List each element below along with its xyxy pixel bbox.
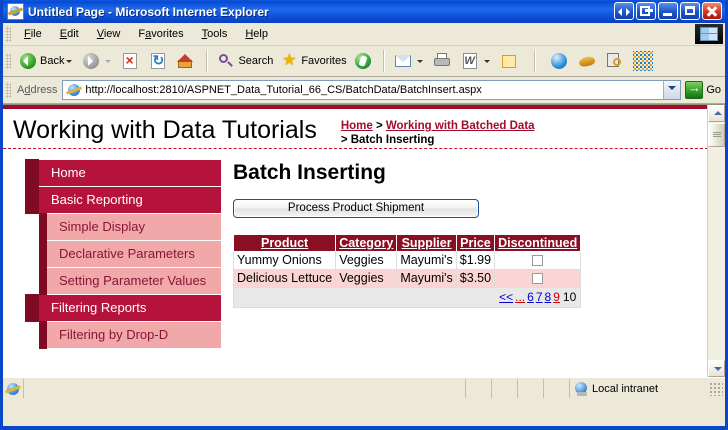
sidebar-item-simple-display[interactable]: Simple Display	[47, 214, 221, 241]
breadcrumb-current: Batch Inserting	[351, 134, 435, 146]
column-header-product[interactable]: Product	[234, 235, 336, 252]
cell-category: Veggies	[336, 270, 397, 288]
mail-chevron-down-icon[interactable]	[417, 60, 423, 66]
cell-supplier: Mayumi's	[397, 270, 456, 288]
sidebar-item-home[interactable]: Home	[39, 160, 221, 187]
media-icon	[353, 51, 373, 71]
toolbar-separator-3	[534, 50, 536, 72]
left-right-arrows-button[interactable]	[614, 2, 634, 20]
media-button[interactable]	[350, 49, 378, 73]
star-icon: ★	[279, 51, 299, 71]
pager-current-page: 10	[563, 290, 576, 304]
pager-page-7-link[interactable]: 7	[536, 290, 543, 304]
search-button[interactable]: Search	[213, 49, 276, 73]
research-button[interactable]	[602, 49, 630, 73]
table-row: Delicious Lettuce Veggies Mayumi's $3.50	[234, 270, 581, 288]
sidebar-item-filtering-reports[interactable]: Filtering Reports	[39, 295, 221, 322]
menu-help[interactable]: Help	[236, 26, 277, 42]
edit-chevron-down-icon[interactable]	[484, 60, 490, 66]
status-pane-2	[491, 379, 517, 398]
forward-history-chevron-down-icon[interactable]	[105, 60, 111, 66]
title-bar: Untitled Page - Microsoft Internet Explo…	[3, 0, 725, 23]
page-title: Batch Inserting	[233, 161, 708, 185]
forward-button[interactable]	[78, 49, 117, 73]
globe-icon	[549, 51, 569, 71]
table-row: Yummy Onions Veggies Mayumi's $1.99	[234, 252, 581, 270]
column-header-price[interactable]: Price	[456, 235, 494, 252]
breadcrumb: Home > Working with Batched Data > Batch…	[341, 115, 535, 147]
breadcrumb-sep-2: >	[341, 134, 351, 146]
notes-button[interactable]	[496, 49, 524, 73]
breadcrumb-link-home[interactable]: Home	[341, 120, 373, 132]
cell-price: $1.99	[456, 252, 494, 270]
address-input[interactable]: http://localhost:2810/ASPNET_Data_Tutori…	[62, 80, 681, 100]
page-viewport: Working with Data Tutorials Home > Worki…	[3, 104, 725, 377]
process-product-shipment-button[interactable]: Process Product Shipment	[233, 199, 479, 218]
discontinued-checkbox[interactable]	[532, 273, 543, 284]
cell-product: Yummy Onions	[234, 252, 336, 270]
mail-button[interactable]	[390, 49, 429, 73]
home-icon	[176, 51, 196, 71]
site-title: Working with Data Tutorials	[13, 115, 317, 145]
page-header: Working with Data Tutorials Home > Worki…	[3, 109, 708, 149]
back-arrow-icon	[18, 51, 38, 71]
window-controls	[614, 2, 722, 20]
status-pane-4	[543, 379, 569, 398]
column-header-supplier[interactable]: Supplier	[397, 235, 456, 252]
back-history-chevron-down-icon[interactable]	[66, 60, 72, 66]
menu-edit[interactable]: Edit	[51, 26, 88, 42]
status-pane-1	[465, 379, 491, 398]
toolbar-separator-2	[383, 50, 385, 72]
browser-window: Untitled Page - Microsoft Internet Explo…	[0, 0, 728, 430]
go-button-label: Go	[706, 84, 721, 96]
back-button-label: Back	[40, 55, 64, 67]
word-document-icon	[460, 51, 480, 71]
minimize-button[interactable]	[658, 2, 678, 20]
refresh-icon	[148, 51, 168, 71]
favorites-button[interactable]: ★ Favorites	[276, 49, 349, 73]
menu-favorites[interactable]: Favorites	[129, 26, 192, 42]
back-button[interactable]: Back	[15, 49, 78, 73]
cell-category: Veggies	[336, 252, 397, 270]
forward-arrow-icon	[81, 51, 101, 71]
toolbar-separator	[206, 50, 208, 72]
vertical-scrollbar[interactable]	[707, 105, 725, 377]
search-button-label: Search	[238, 55, 273, 67]
stop-button[interactable]	[117, 49, 145, 73]
menu-bar: File Edit View Favorites Tools Help	[3, 23, 725, 46]
sidebar-item-basic-reporting[interactable]: Basic Reporting	[39, 187, 221, 214]
cell-product: Delicious Lettuce	[234, 270, 336, 288]
column-header-discontinued[interactable]: Discontinued	[495, 235, 581, 252]
pager-ellipsis-link[interactable]: ...	[515, 290, 525, 304]
ie-page-icon	[7, 3, 24, 20]
breadcrumb-link-section[interactable]: Working with Batched Data	[386, 120, 535, 132]
msn-butterfly-icon	[577, 51, 597, 71]
print-button[interactable]	[429, 49, 457, 73]
scroll-up-button[interactable]	[708, 105, 725, 122]
messenger-icon	[633, 51, 653, 71]
sidebar-nav: Home Basic Reporting Simple Display Decl…	[3, 149, 221, 349]
web-page: Working with Data Tutorials Home > Worki…	[3, 105, 708, 377]
menu-file[interactable]: File	[15, 26, 51, 42]
printer-icon	[432, 51, 452, 71]
sidebar-item-filtering-by-dropdown[interactable]: Filtering by Drop-D	[47, 322, 221, 349]
pager-page-9-link[interactable]: 9	[553, 290, 560, 304]
close-button[interactable]	[702, 2, 722, 20]
cell-discontinued	[495, 252, 581, 270]
status-ie-icon	[5, 381, 21, 397]
standard-toolbar: Back Search ★ Favorites	[3, 46, 725, 77]
security-zone-label: Local intranet	[592, 383, 658, 395]
msn-button[interactable]	[574, 49, 602, 73]
go-button[interactable]: Go	[681, 81, 725, 99]
menu-drag-grip[interactable]	[5, 26, 11, 42]
restore-export-button[interactable]	[636, 2, 656, 20]
discontinued-checkbox[interactable]	[532, 255, 543, 266]
menu-view[interactable]: View	[88, 26, 130, 42]
home-button[interactable]	[173, 49, 201, 73]
sidebar-item-setting-parameter-values[interactable]: Setting Parameter Values	[47, 268, 221, 295]
stop-icon	[120, 51, 140, 71]
mail-icon	[393, 51, 413, 71]
messenger-globe-button[interactable]	[546, 49, 574, 73]
address-drag-grip[interactable]	[5, 82, 11, 98]
status-bar: Local intranet	[3, 377, 725, 399]
column-header-category[interactable]: Category	[336, 235, 397, 252]
pager-page-6-link[interactable]: 6	[527, 290, 534, 304]
cell-price: $3.50	[456, 270, 494, 288]
address-chevron-down-icon[interactable]	[663, 81, 680, 99]
pager-page-8-link[interactable]: 8	[545, 290, 552, 304]
page-body: Home Basic Reporting Simple Display Decl…	[3, 149, 708, 349]
go-arrow-icon	[685, 81, 703, 99]
security-zone[interactable]: Local intranet	[569, 379, 709, 398]
local-intranet-icon	[574, 381, 589, 396]
address-bar: Address http://localhost:2810/ASPNET_Dat…	[3, 77, 725, 104]
cell-discontinued	[495, 270, 581, 288]
sidebar-item-declarative-parameters[interactable]: Declarative Parameters	[47, 241, 221, 268]
scrollbar-thumb[interactable]	[708, 123, 725, 147]
research-magnifier-icon	[605, 51, 625, 71]
main-content: Batch Inserting Process Product Shipment…	[221, 149, 708, 308]
table-header-row: Product Category Supplier Price Disconti…	[234, 235, 581, 252]
pager-row: <<...678910	[234, 288, 581, 308]
address-label: Address	[15, 84, 62, 96]
cell-supplier: Mayumi's	[397, 252, 456, 270]
toolbar-drag-grip[interactable]	[5, 53, 11, 69]
window-title: Untitled Page - Microsoft Internet Explo…	[28, 5, 269, 19]
address-url-text: http://localhost:2810/ASPNET_Data_Tutori…	[85, 84, 663, 96]
favorites-button-label: Favorites	[301, 55, 346, 67]
maximize-button[interactable]	[680, 2, 700, 20]
status-pane-3	[517, 379, 543, 398]
breadcrumb-sep-1: >	[373, 120, 386, 132]
note-icon	[499, 51, 519, 71]
resize-grip[interactable]	[709, 382, 723, 396]
products-grid: Product Category Supplier Price Disconti…	[233, 234, 581, 308]
windows-flag-logo-icon	[695, 24, 723, 44]
edit-word-button[interactable]	[457, 49, 496, 73]
menu-tools[interactable]: Tools	[193, 26, 237, 42]
pager-first-link[interactable]: <<	[499, 290, 513, 304]
status-message	[23, 379, 465, 398]
ie-globe-icon	[66, 82, 82, 98]
refresh-button[interactable]	[145, 49, 173, 73]
messenger-button[interactable]	[630, 49, 658, 73]
pager-cell: <<...678910	[234, 288, 581, 308]
scroll-down-button[interactable]	[708, 360, 725, 377]
search-icon	[216, 51, 236, 71]
